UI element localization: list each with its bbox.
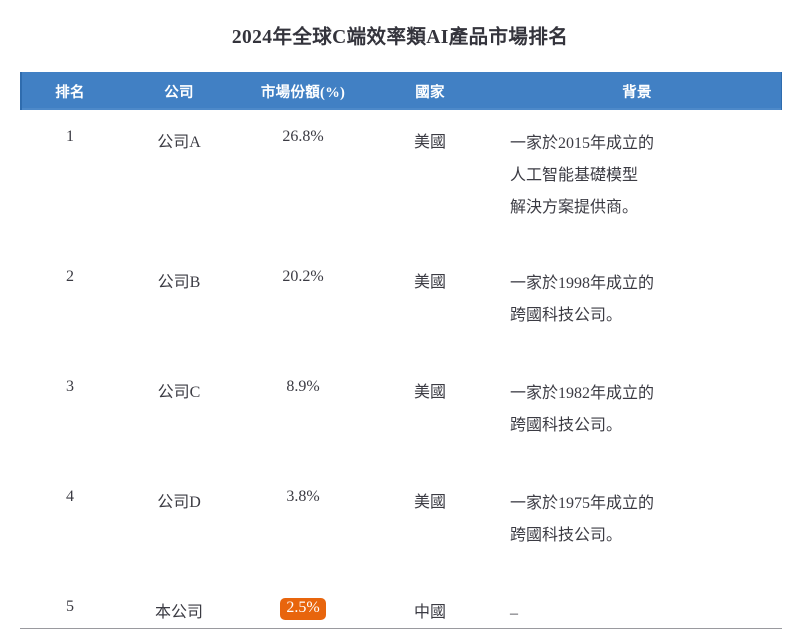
- table-header-company: 公司: [120, 72, 238, 110]
- cell-company-text: 公司A: [120, 110, 238, 152]
- cell-background: 一家於1982年成立的 跨國科技公司。: [492, 360, 782, 470]
- cell-rank: 2: [20, 250, 120, 360]
- cell-background: 一家於1975年成立的 跨國科技公司。: [492, 470, 782, 580]
- ranking-table-wrapper: 排名公司市場份額(%)國家背景 1公司A26.8%美國一家於2015年成立的 人…: [20, 72, 782, 630]
- cell-country-text: 中國: [368, 580, 492, 622]
- table-head: 排名公司市場份額(%)國家背景: [20, 72, 782, 110]
- cell-company: 公司B: [120, 250, 238, 360]
- table-header-share: 市場份額(%): [238, 72, 368, 110]
- cell-background: –: [492, 580, 782, 630]
- table-header-country: 國家: [368, 72, 492, 110]
- cell-rank: 5: [20, 580, 120, 630]
- cell-rank-text: 3: [20, 360, 120, 396]
- cell-company-text: 公司D: [120, 470, 238, 512]
- market-share-highlight-badge: 2.5%: [280, 598, 325, 620]
- cell-rank: 4: [20, 470, 120, 580]
- cell-rank-text: 4: [20, 470, 120, 506]
- table-row: 5本公司2.5%中國–: [20, 580, 782, 630]
- table-row: 1公司A26.8%美國一家於2015年成立的 人工智能基礎模型 解決方案提供商。: [20, 110, 782, 250]
- cell-rank-text: 5: [20, 580, 120, 616]
- company-background-text: 一家於2015年成立的 人工智能基礎模型 解決方案提供商。: [492, 110, 782, 224]
- cell-background: 一家於1998年成立的 跨國科技公司。: [492, 250, 782, 360]
- cell-company: 公司A: [120, 110, 238, 250]
- table-header-background: 背景: [492, 72, 782, 110]
- cell-share: 20.2%: [238, 250, 368, 360]
- cell-country-text: 美國: [368, 110, 492, 152]
- cell-country: 美國: [368, 250, 492, 360]
- cell-country-text: 美國: [368, 360, 492, 402]
- cell-rank: 1: [20, 110, 120, 250]
- table-row: 2公司B20.2%美國一家於1998年成立的 跨國科技公司。: [20, 250, 782, 360]
- cell-country: 美國: [368, 110, 492, 250]
- cell-company: 公司D: [120, 470, 238, 580]
- cell-company-text: 本公司: [120, 580, 238, 622]
- company-background-text: –: [492, 580, 782, 630]
- market-share-value: 26.8%: [282, 128, 323, 146]
- table-header-rank: 排名: [20, 72, 120, 110]
- company-background-text: 一家於1998年成立的 跨國科技公司。: [492, 250, 782, 332]
- table-bottom-rule: [20, 628, 782, 629]
- cell-country-text: 美國: [368, 470, 492, 512]
- page-title: 2024年全球C端效率類AI產品市場排名: [0, 20, 800, 49]
- market-share-value: 3.8%: [286, 488, 319, 506]
- cell-share: 3.8%: [238, 470, 368, 580]
- document-page: 2024年全球C端效率類AI產品市場排名 排名公司市場份額(%)國家背景 1公司…: [0, 0, 800, 639]
- cell-background: 一家於2015年成立的 人工智能基礎模型 解決方案提供商。: [492, 110, 782, 250]
- company-background-text: 一家於1982年成立的 跨國科技公司。: [492, 360, 782, 442]
- table-body: 1公司A26.8%美國一家於2015年成立的 人工智能基礎模型 解決方案提供商。…: [20, 110, 782, 630]
- cell-country: 中國: [368, 580, 492, 630]
- cell-share: 2.5%: [238, 580, 368, 630]
- cell-rank: 3: [20, 360, 120, 470]
- cell-rank-text: 1: [20, 110, 120, 146]
- cell-share: 8.9%: [238, 360, 368, 470]
- company-background-text: 一家於1975年成立的 跨國科技公司。: [492, 470, 782, 552]
- cell-company: 本公司: [120, 580, 238, 630]
- cell-company-text: 公司B: [120, 250, 238, 292]
- table-row: 4公司D3.8%美國一家於1975年成立的 跨國科技公司。: [20, 470, 782, 580]
- table-header-row: 排名公司市場份額(%)國家背景: [20, 72, 782, 110]
- market-share-value: 20.2%: [282, 268, 323, 286]
- cell-country: 美國: [368, 360, 492, 470]
- table-row: 3公司C8.9%美國一家於1982年成立的 跨國科技公司。: [20, 360, 782, 470]
- ranking-table: 排名公司市場份額(%)國家背景 1公司A26.8%美國一家於2015年成立的 人…: [20, 72, 782, 630]
- cell-company: 公司C: [120, 360, 238, 470]
- cell-country: 美國: [368, 470, 492, 580]
- cell-country-text: 美國: [368, 250, 492, 292]
- cell-company-text: 公司C: [120, 360, 238, 402]
- cell-rank-text: 2: [20, 250, 120, 286]
- market-share-value: 8.9%: [286, 378, 319, 396]
- cell-share: 26.8%: [238, 110, 368, 250]
